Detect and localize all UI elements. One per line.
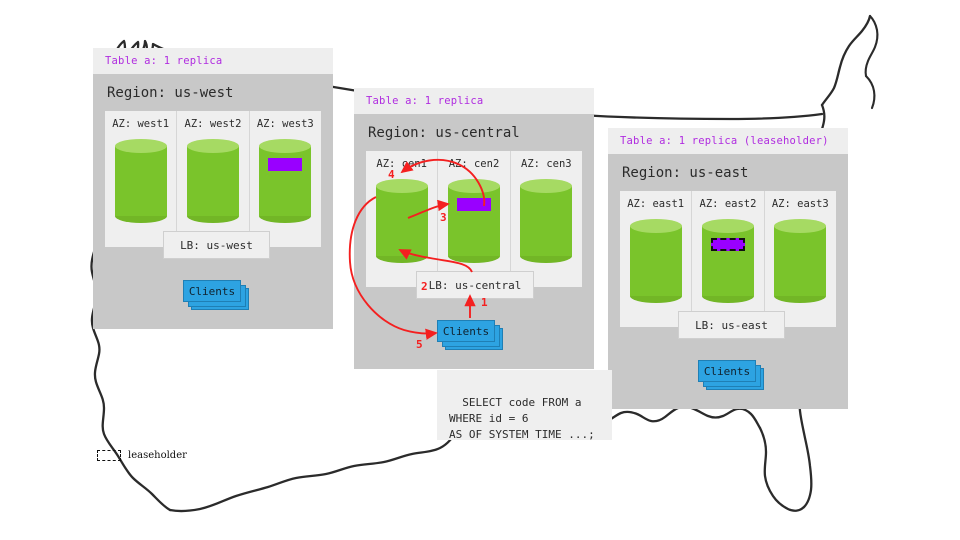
az-cell-cen1[interactable]: AZ: cen1 xyxy=(366,151,437,287)
replica-block-west3[interactable] xyxy=(268,158,302,171)
az-label-east1: AZ: east1 xyxy=(620,198,691,210)
node-cylinder-west2[interactable] xyxy=(187,139,239,223)
az-strip-us-west: AZ: west1 AZ: west2 AZ: west3 xyxy=(105,111,321,247)
region-banner-us-west: Table a: 1 replica xyxy=(93,48,333,74)
az-label-cen1: AZ: cen1 xyxy=(366,158,437,170)
az-cell-west2[interactable]: AZ: west2 xyxy=(176,111,248,247)
region-banner-us-central: Table a: 1 replica xyxy=(354,88,594,114)
clients-label-us-west: Clients xyxy=(189,285,235,298)
load-balancer-us-east[interactable]: LB: us-east xyxy=(678,311,785,339)
az-strip-us-east: AZ: east1 AZ: east2 AZ: eas xyxy=(620,191,836,327)
step-number-5: 5 xyxy=(416,338,423,351)
az-cell-cen3[interactable]: AZ: cen3 xyxy=(510,151,582,287)
region-panel-us-east: Table a: 1 replica (leaseholder) Region:… xyxy=(608,128,848,409)
region-panel-us-central: Table a: 1 replica Region: us-central AZ… xyxy=(354,88,594,369)
clients-label-us-central: Clients xyxy=(443,325,489,338)
az-cell-west3[interactable]: AZ: west3 xyxy=(249,111,321,247)
region-banner-us-east: Table a: 1 replica (leaseholder) xyxy=(608,128,848,154)
node-cylinder-west3[interactable] xyxy=(259,139,311,223)
az-label-east3: AZ: east3 xyxy=(765,198,836,210)
region-title-us-west: Region: us-west xyxy=(93,74,333,111)
az-label-cen3: AZ: cen3 xyxy=(511,158,582,170)
az-cell-east2[interactable]: AZ: east2 xyxy=(691,191,763,327)
legend: leaseholder xyxy=(97,450,187,461)
clients-us-west[interactable]: Clients xyxy=(183,280,251,310)
node-cylinder-cen1[interactable] xyxy=(376,179,428,263)
az-label-cen2: AZ: cen2 xyxy=(438,158,509,170)
node-cylinder-cen3[interactable] xyxy=(520,179,572,263)
step-number-3: 3 xyxy=(440,211,447,224)
az-label-west3: AZ: west3 xyxy=(250,118,321,130)
clients-us-central[interactable]: Clients xyxy=(437,320,509,350)
lb-label-us-east: LB: us-east xyxy=(695,319,768,332)
az-label-west2: AZ: west2 xyxy=(177,118,248,130)
legend-label: leaseholder xyxy=(128,450,187,461)
step-number-4: 4 xyxy=(388,168,395,181)
replica-block-cen2[interactable] xyxy=(457,198,491,211)
region-title-us-central: Region: us-central xyxy=(354,114,594,151)
clients-us-east[interactable]: Clients xyxy=(698,360,766,390)
node-cylinder-east3[interactable] xyxy=(774,219,826,303)
region-title-us-east: Region: us-east xyxy=(608,154,848,191)
step-number-1: 1 xyxy=(481,296,488,309)
lb-label-us-central: LB: us-central xyxy=(429,279,522,292)
sql-query-text: SELECT code FROM a WHERE id = 6 AS OF SY… xyxy=(449,396,595,441)
region-panel-us-west: Table a: 1 replica Region: us-west AZ: w… xyxy=(93,48,333,329)
node-cylinder-east2[interactable] xyxy=(702,219,754,303)
node-cylinder-east1[interactable] xyxy=(630,219,682,303)
lb-label-us-west: LB: us-west xyxy=(180,239,253,252)
az-label-east2: AZ: east2 xyxy=(692,198,763,210)
step-number-2: 2 xyxy=(421,280,428,293)
load-balancer-us-west[interactable]: LB: us-west xyxy=(163,231,270,259)
az-strip-us-central: AZ: cen1 AZ: cen2 AZ: cen3 xyxy=(366,151,582,287)
node-cylinder-west1[interactable] xyxy=(115,139,167,223)
load-balancer-us-central[interactable]: LB: us-central xyxy=(416,271,534,299)
clients-label-us-east: Clients xyxy=(704,365,750,378)
az-cell-cen2[interactable]: AZ: cen2 xyxy=(437,151,509,287)
az-cell-west1[interactable]: AZ: west1 xyxy=(105,111,176,247)
sql-query-box: SELECT code FROM a WHERE id = 6 AS OF SY… xyxy=(437,370,612,440)
az-cell-east1[interactable]: AZ: east1 xyxy=(620,191,691,327)
replica-block-east2-leaseholder[interactable] xyxy=(711,238,745,251)
leaseholder-dashed-icon xyxy=(97,450,121,461)
node-cylinder-cen2[interactable] xyxy=(448,179,500,263)
az-cell-east3[interactable]: AZ: east3 xyxy=(764,191,836,327)
az-label-west1: AZ: west1 xyxy=(105,118,176,130)
